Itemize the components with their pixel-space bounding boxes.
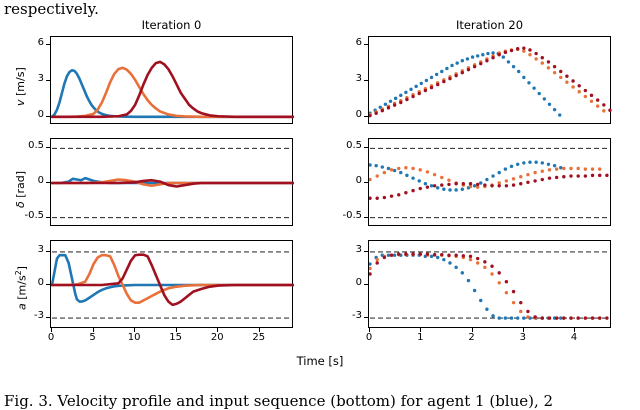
x-tick-mark [259, 328, 260, 332]
y-tick-mark [46, 116, 50, 117]
x-tick-label: 0 [39, 332, 63, 343]
y-tick-mark [46, 147, 50, 148]
y-tick-label: 6 [10, 37, 44, 48]
x-tick-label: 1 [408, 332, 432, 343]
y-tick-mark [364, 147, 368, 148]
page-top-text: respectively. [4, 0, 99, 18]
y-tick-mark [364, 217, 368, 218]
y-tick-label: 0 [328, 277, 362, 288]
x-tick-mark [176, 328, 177, 332]
plot-panel-r0-c1 [368, 36, 611, 124]
x-tick-label: 25 [247, 332, 271, 343]
y-tick-mark [46, 182, 50, 183]
y-axis-label-row1: δ [rad] [14, 171, 27, 208]
x-tick-mark [523, 328, 524, 332]
x-tick-label: 5 [81, 332, 105, 343]
y-tick-mark [46, 44, 50, 45]
y-tick-label: 6 [328, 37, 362, 48]
x-tick-mark [369, 328, 370, 332]
y-tick-mark [46, 80, 50, 81]
y-tick-mark [46, 251, 50, 252]
y-tick-mark [46, 217, 50, 218]
plot-panel-r2-c1 [368, 240, 611, 328]
y-tick-label: 0 [10, 109, 44, 120]
x-tick-mark [420, 328, 421, 332]
y-tick-label: 0.5 [10, 140, 44, 151]
y-axis-label-row2: a [m/s2] [14, 266, 29, 310]
x-tick-label: 10 [122, 332, 146, 343]
x-axis-label: Time [s] [0, 354, 640, 368]
x-tick-label: 4 [562, 332, 586, 343]
x-tick-mark [574, 328, 575, 332]
y-tick-label: 3 [328, 73, 362, 84]
column-title-iteration-0: Iteration 0 [50, 18, 293, 32]
y-tick-mark [364, 44, 368, 45]
y-tick-label: -3 [328, 310, 362, 321]
figure: Iteration 0 Iteration 20 036036v [m/s]-0… [0, 18, 640, 388]
x-tick-mark [93, 328, 94, 332]
y-tick-mark [364, 284, 368, 285]
x-tick-mark [134, 328, 135, 332]
y-tick-mark [46, 317, 50, 318]
y-tick-mark [46, 284, 50, 285]
x-tick-label: 3 [511, 332, 535, 343]
y-tick-label: 0.5 [328, 140, 362, 151]
figure-caption: Fig. 3. Velocity profile and input seque… [4, 392, 553, 410]
y-tick-label: 0 [328, 109, 362, 120]
y-tick-mark [364, 251, 368, 252]
y-tick-label: -3 [10, 310, 44, 321]
x-tick-mark [472, 328, 473, 332]
x-tick-label: 2 [460, 332, 484, 343]
y-tick-mark [364, 182, 368, 183]
y-tick-label: 3 [328, 244, 362, 255]
y-tick-mark [364, 116, 368, 117]
x-tick-mark [51, 328, 52, 332]
x-tick-label: 0 [357, 332, 381, 343]
y-tick-label: -0.5 [328, 210, 362, 221]
x-tick-label: 15 [164, 332, 188, 343]
y-tick-label: 3 [10, 244, 44, 255]
y-tick-mark [364, 317, 368, 318]
x-tick-label: 20 [205, 332, 229, 343]
y-tick-mark [364, 80, 368, 81]
plot-panel-r1-c1 [368, 138, 611, 226]
plot-panel-r0-c0 [50, 36, 293, 124]
column-title-iteration-20: Iteration 20 [368, 18, 611, 32]
x-tick-mark [217, 328, 218, 332]
y-tick-label: 0 [328, 175, 362, 186]
y-axis-label-row0: v [m/s] [14, 67, 27, 106]
plot-panel-r2-c0 [50, 240, 293, 328]
y-tick-label: -0.5 [10, 210, 44, 221]
plot-panel-r1-c0 [50, 138, 293, 226]
